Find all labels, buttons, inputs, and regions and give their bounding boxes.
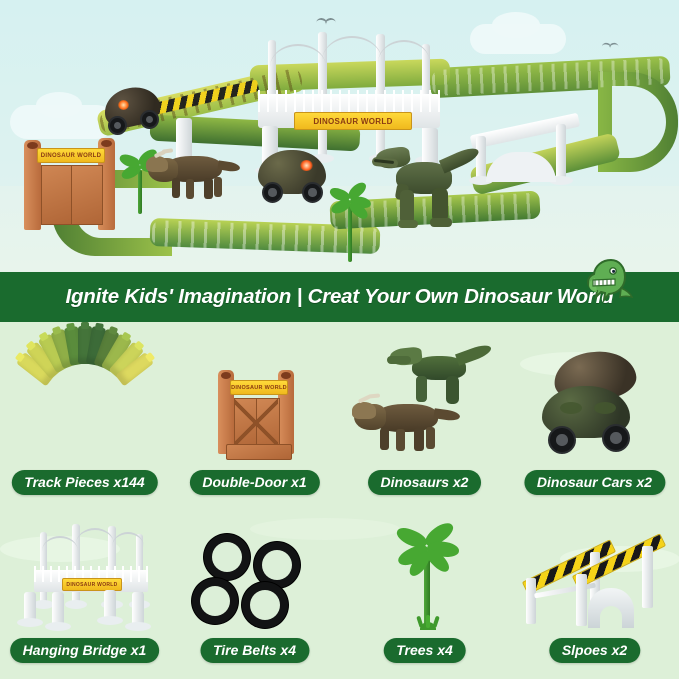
- bridge-pillar-base: [52, 592, 64, 626]
- headline-banner: Ignite Kids' Imagination | Creat Your Ow…: [0, 272, 679, 322]
- tire-belt: [242, 582, 288, 628]
- car-wheel: [262, 182, 283, 203]
- dinosaur-car-light: [118, 100, 129, 110]
- palm-tree-icon: [392, 526, 462, 628]
- dinosaur-cars-art: [510, 344, 679, 480]
- item-card-slopes: Slpoes x2: [510, 512, 679, 679]
- car-wheel: [302, 182, 323, 203]
- bridge-railing: [258, 90, 440, 112]
- cloud-icon: [492, 12, 540, 38]
- gate-sign: DINOSAUR WORLD: [37, 148, 105, 163]
- hero-scene: DINOSAUR WORLD DINOSAUR WORLD: [0, 0, 679, 272]
- bird-icon: [602, 43, 621, 52]
- slope-leg: [556, 124, 566, 180]
- bridge-pillar-base: [104, 590, 116, 620]
- gate-base: [226, 444, 292, 460]
- item-card-hanging-bridge: DINOSAUR WORLD Hanging Bridge x1: [0, 512, 169, 679]
- bridge-pillar-base: [132, 592, 144, 626]
- slope-leg: [476, 136, 486, 180]
- car-wheel: [140, 110, 159, 129]
- bridge-cable: [76, 528, 114, 560]
- car-wheel: [108, 116, 127, 135]
- tire-belt: [204, 534, 250, 580]
- cloud-icon: [36, 92, 82, 118]
- bird-icon: [316, 18, 338, 28]
- item-card-dinosaurs: Dinosaurs x2: [340, 344, 509, 522]
- product-infographic: DINOSAUR WORLD DINOSAUR WORLD: [0, 0, 679, 679]
- items-grid: Track Pieces x144 DINOSAUR WORLD Double-…: [0, 322, 679, 679]
- item-card-tire-belts: Tire Belts x4: [170, 512, 339, 679]
- dinosaur-figures-art: [340, 344, 509, 480]
- hanging-bridge-art: DINOSAUR WORLD: [0, 512, 169, 648]
- track-pieces-fan-art: [0, 344, 169, 480]
- slope-leg: [526, 578, 536, 624]
- bridge-cable: [42, 536, 78, 566]
- palm-tree-art: [340, 512, 509, 648]
- triceratops-figure: [350, 392, 462, 458]
- item-card-trees: Trees x4: [340, 512, 509, 679]
- bridge-cable: [322, 36, 382, 86]
- slope-ramps-art: [510, 512, 679, 648]
- tire-belt: [192, 578, 238, 624]
- tyrannosaurus-rex-figure: [370, 140, 474, 238]
- car-wheel: [602, 424, 630, 452]
- car-wheel: [548, 426, 576, 454]
- tire-belts-art: [170, 512, 339, 648]
- bridge-cable: [270, 44, 326, 90]
- double-door-gate-art: DINOSAUR WORLD: [170, 344, 339, 480]
- gate-sign: DINOSAUR WORLD: [230, 380, 288, 395]
- triceratops-figure: [148, 146, 234, 204]
- slope-leg: [642, 546, 653, 608]
- gate-door-left: [41, 165, 73, 225]
- item-card-dinosaur-cars: Dinosaur Cars x2: [510, 344, 679, 522]
- slope-leg: [576, 574, 587, 626]
- t-rex-mascot-icon: [577, 254, 633, 306]
- gate-door-right: [71, 165, 103, 225]
- slope-ramp: [570, 518, 674, 628]
- item-card-track-pieces: Track Pieces x144: [0, 344, 169, 522]
- dinosaur-car-light: [300, 160, 313, 171]
- tire-belt: [254, 542, 300, 588]
- bridge-sign: DINOSAUR WORLD: [294, 112, 412, 130]
- bridge-pillar-base: [24, 592, 36, 622]
- item-card-double-door: DINOSAUR WORLD Double-Door x1: [170, 344, 339, 522]
- bridge-cable: [378, 40, 430, 86]
- bridge-cable: [112, 532, 144, 562]
